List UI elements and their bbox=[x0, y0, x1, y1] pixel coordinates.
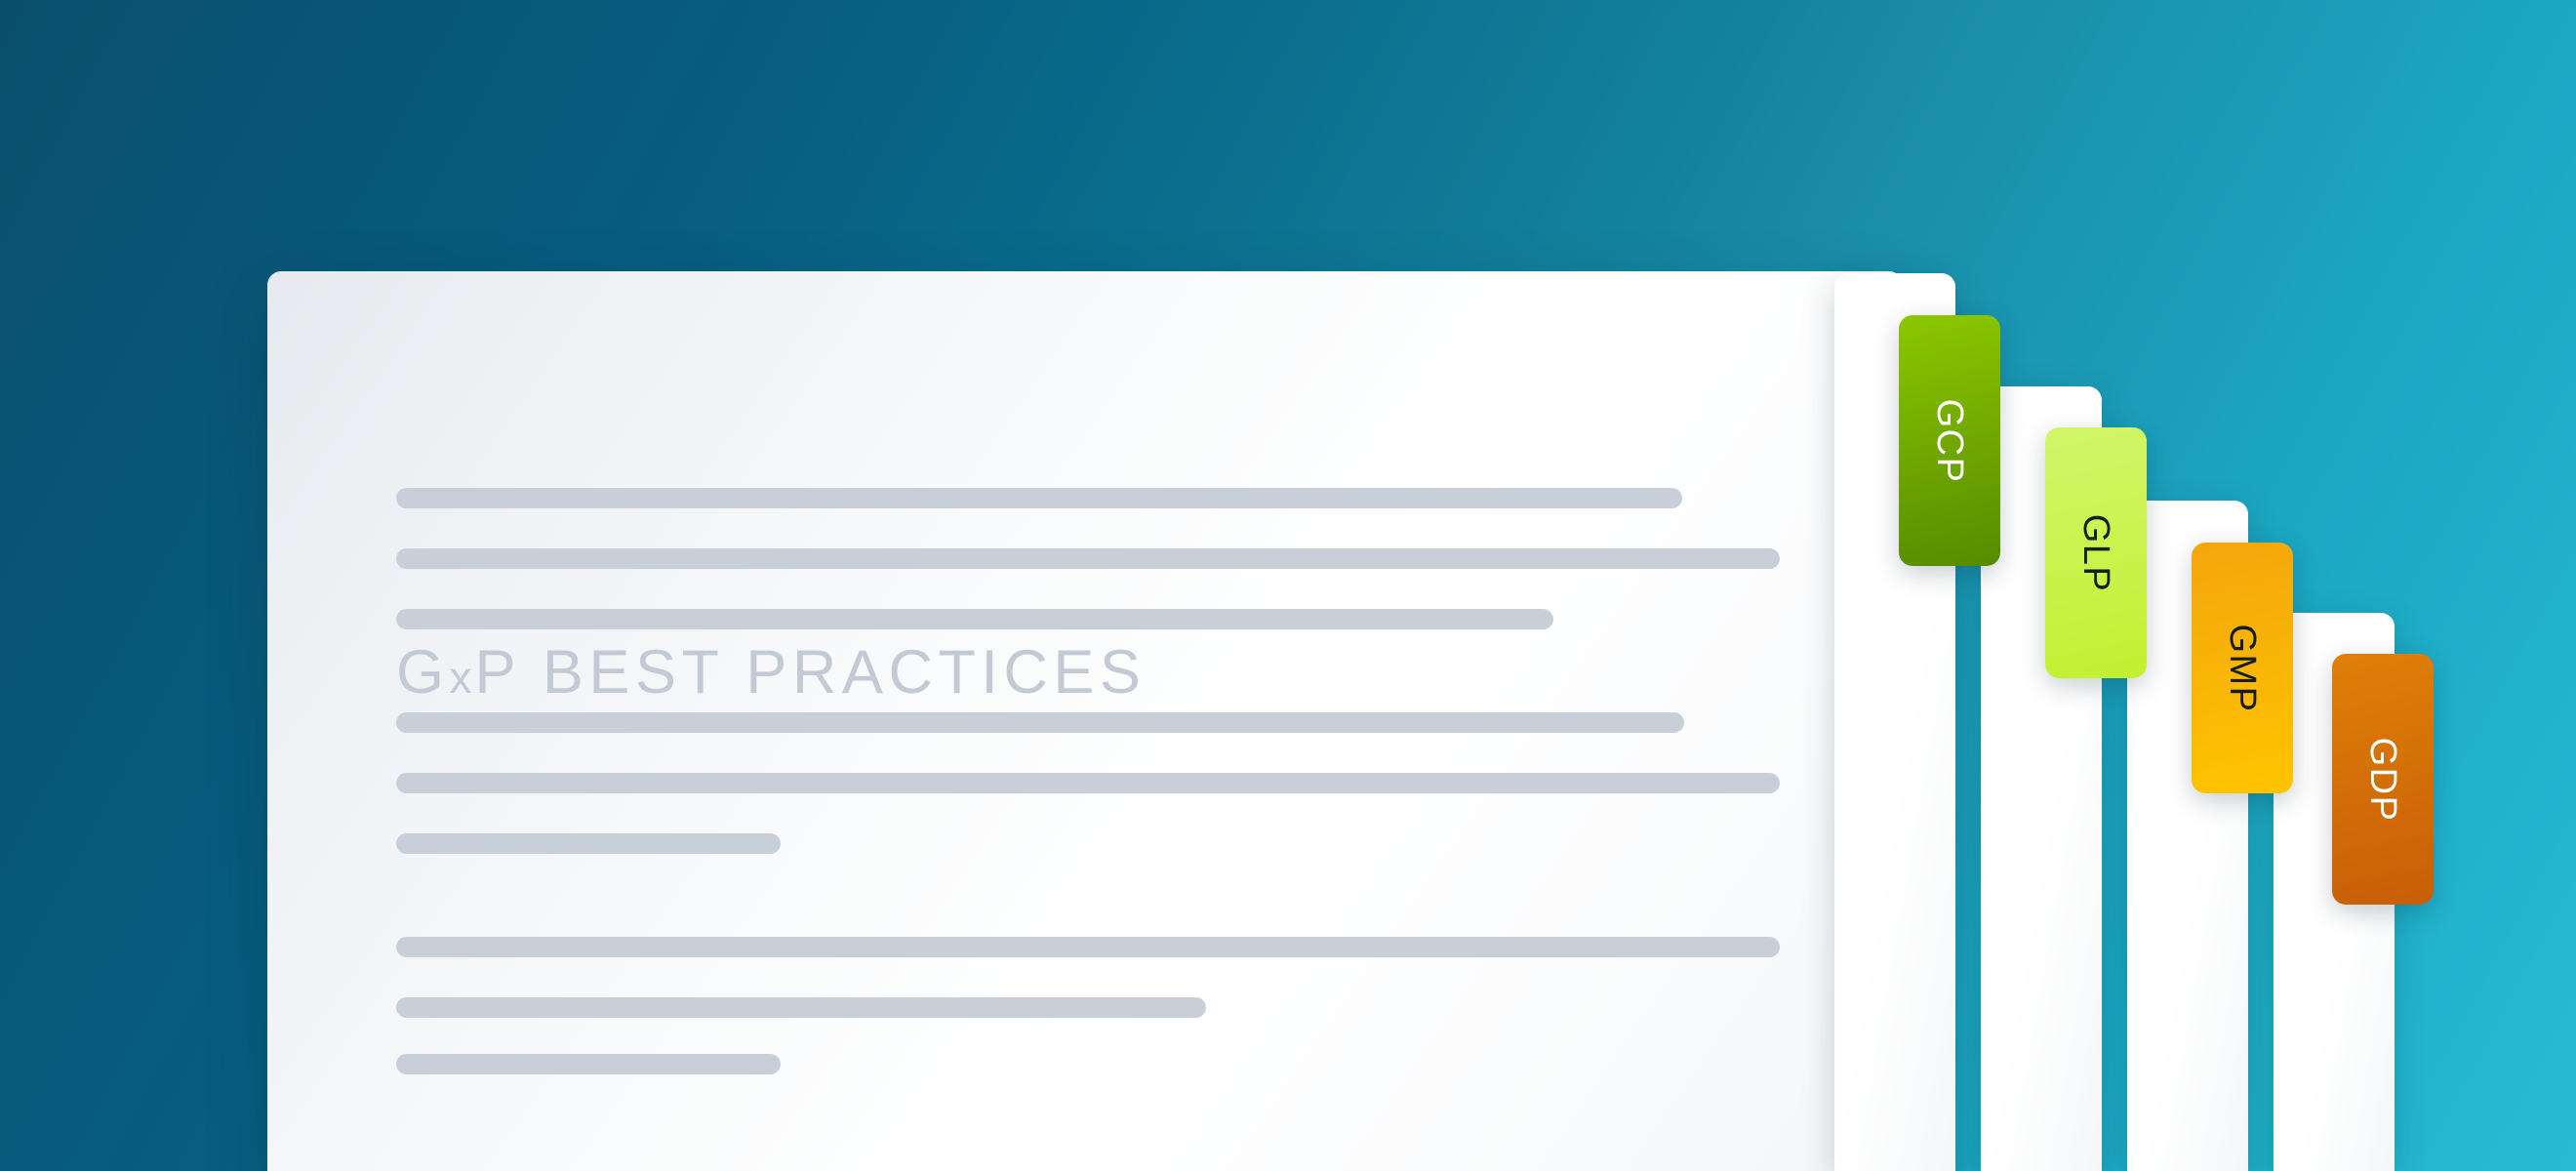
tab-glp[interactable]: GLP bbox=[2045, 427, 2147, 678]
line-3-2 bbox=[396, 997, 1206, 1018]
page-title-g: G bbox=[396, 638, 450, 707]
tab-gmp-label: GMP bbox=[2224, 624, 2261, 712]
line-2-3 bbox=[396, 833, 781, 854]
page-title-x: x bbox=[450, 652, 475, 703]
line-1-1 bbox=[396, 488, 1682, 508]
tab-gcp[interactable]: GCP bbox=[1899, 315, 2000, 566]
tab-gdp[interactable]: GDP bbox=[2332, 654, 2434, 905]
document-card: GxP BEST PRACTICES bbox=[267, 271, 1903, 1171]
line-1-2 bbox=[396, 548, 1780, 569]
line-2-1 bbox=[396, 712, 1684, 733]
line-2-2 bbox=[396, 773, 1780, 793]
tab-gcp-label: GCP bbox=[1931, 398, 1968, 483]
line-3-3 bbox=[396, 1054, 781, 1074]
tab-glp-label: GLP bbox=[2077, 513, 2114, 592]
line-1-3 bbox=[396, 609, 1553, 629]
page-title: GxP BEST PRACTICES bbox=[396, 637, 1146, 707]
page-title-rest: P BEST PRACTICES bbox=[475, 638, 1147, 707]
tab-gdp-label: GDP bbox=[2364, 737, 2401, 822]
line-3-1 bbox=[396, 937, 1780, 957]
page-root: GCPGLPGMPGDP GxP BEST PRACTICES bbox=[0, 0, 2576, 1171]
tab-gmp[interactable]: GMP bbox=[2192, 543, 2293, 793]
